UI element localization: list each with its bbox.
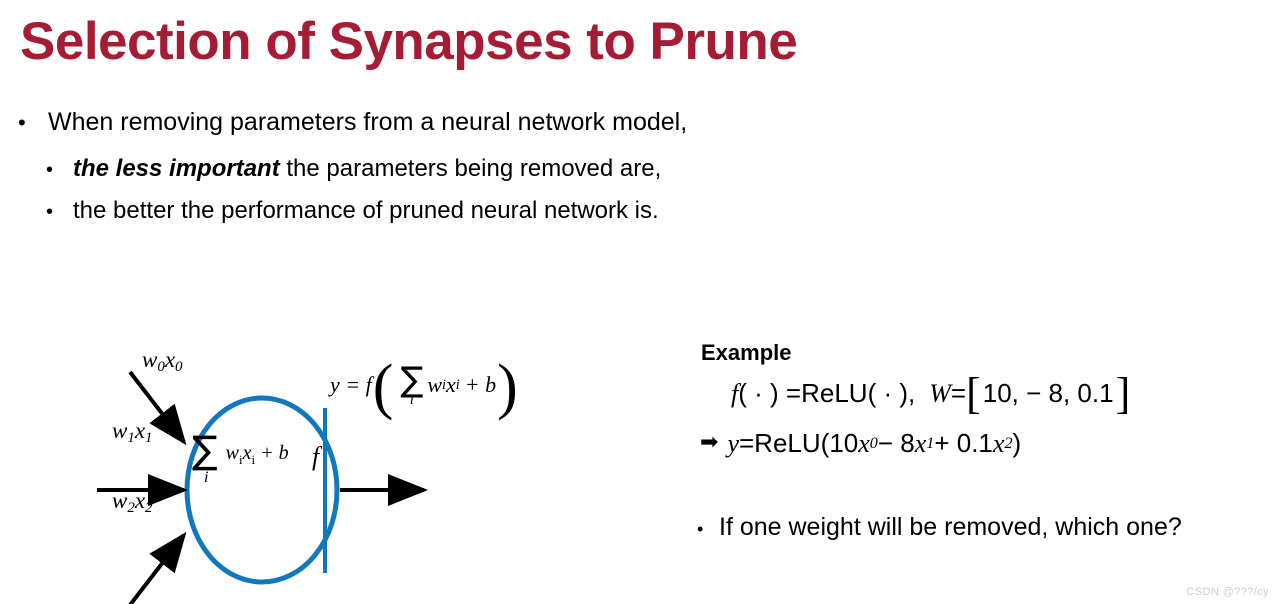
x-subscript: 2 <box>145 500 152 516</box>
bullet-marker-icon: • <box>697 520 719 538</box>
question-text: If one weight will be removed, which one… <box>719 513 1182 542</box>
bracket-close: ] <box>1116 381 1131 407</box>
neuron-diagram: w0x0 w1x1 w2x2 ∑iwixi+ b f y = f(∑iwixi+… <box>0 320 640 604</box>
page-title: Selection of Synapses to Prune <box>20 10 797 74</box>
weight-matrix-symbol: W <box>929 379 951 409</box>
watermark-label: CSDN @???/cy <box>1186 586 1269 598</box>
right-arrow-icon: ➡ <box>700 430 718 455</box>
bullet-marker-icon: • <box>18 112 48 134</box>
w-subscript: 2 <box>127 500 134 516</box>
w-symbol: w <box>142 347 157 372</box>
relu-label: ReLU <box>754 428 820 459</box>
input-label-w2x2: w2x2 <box>112 488 153 517</box>
bullet-item-level2: • the better the performance of pruned n… <box>46 197 659 225</box>
example-heading: Example <box>701 340 792 366</box>
expr-open: (10 <box>821 428 859 459</box>
output-equation: y = f(∑iwixi+ b) <box>330 365 519 406</box>
summation-index: i <box>410 393 414 408</box>
bullet-item-level1: • When removing parameters from a neural… <box>18 108 687 137</box>
w-subscript: 1 <box>127 430 134 446</box>
bracket-open: [ <box>966 381 981 407</box>
input-subscript: i <box>251 452 255 467</box>
bullet-marker-icon: • <box>46 160 73 180</box>
x0-symbol: x <box>858 429 870 459</box>
bullet-item-level2-emphasis: • the less important the parameters bein… <box>46 155 661 183</box>
input-label-w1x1: w1x1 <box>112 418 153 447</box>
expr-close: ) <box>1013 428 1022 459</box>
term-2: + 0.1 <box>934 428 993 459</box>
input-arrow-2 <box>130 535 184 604</box>
open-paren: ( <box>373 369 394 406</box>
output-symbol: y <box>727 429 739 459</box>
x-subscript: 1 <box>145 430 152 446</box>
input-label-w0x0: w0x0 <box>142 347 183 376</box>
neuron-body-circle <box>187 398 337 582</box>
x1-symbol: x <box>915 429 927 459</box>
bias-term: + b <box>260 442 289 464</box>
weight-vector-values: 10, − 8, 0.1 <box>983 378 1114 409</box>
w-symbol: w <box>112 418 127 443</box>
activation-function-label: f <box>312 442 319 472</box>
equation-lhs: y = f <box>330 372 372 398</box>
bullet-marker-icon: • <box>46 202 73 222</box>
equals-sign: = <box>739 428 754 459</box>
w-symbol: w <box>112 488 127 513</box>
input-symbol: x <box>446 372 456 398</box>
x2-symbol: x <box>993 429 1005 459</box>
x0-subscript: 0 <box>870 435 878 453</box>
x-symbol: x <box>165 347 175 372</box>
question-bullet: • If one weight will be removed, which o… <box>697 513 1182 542</box>
equals-sign: = <box>951 378 966 409</box>
summation-index: i <box>204 469 208 487</box>
bullet-text-group: the less important the parameters being … <box>73 155 661 183</box>
bullet-text: When removing parameters from a neural n… <box>48 108 687 137</box>
neuron-sum-expression: ∑iwixi+ b <box>192 433 342 468</box>
relu-label: ReLU <box>801 378 867 409</box>
x2-subscript: 2 <box>1004 435 1012 453</box>
x1-subscript: 1 <box>926 435 934 453</box>
x-symbol: x <box>135 488 145 513</box>
summation-group: ∑i <box>400 367 423 408</box>
summation-icon: ∑ <box>192 428 218 472</box>
summation-icon: ∑ <box>400 367 423 394</box>
x-symbol: x <box>135 418 145 443</box>
function-args: ( · ) = <box>738 378 801 409</box>
bias-term: + b <box>465 372 496 398</box>
example-formula-result: ➡y = ReLU(10x0 − 8x1 + 0.1x2) <box>700 428 1021 459</box>
term-1: − 8 <box>878 428 915 459</box>
relu-args: ( · ), <box>868 378 916 409</box>
input-subscript: i <box>456 377 460 394</box>
x-subscript: 0 <box>175 359 182 375</box>
bullet-rest-text: the parameters being removed are, <box>280 155 662 182</box>
example-formula-definition: f( · ) = ReLU( · ),W = [10, − 8, 0.1] <box>731 378 1130 409</box>
w-subscript: 0 <box>157 359 164 375</box>
bullet-emphasis-text: the less important <box>73 155 280 182</box>
weight-symbol: w <box>427 372 442 398</box>
close-paren: ) <box>497 369 518 406</box>
bullet-text: the better the performance of pruned neu… <box>73 197 659 225</box>
function-symbol: f <box>731 379 738 409</box>
weight-symbol: w <box>226 442 239 464</box>
